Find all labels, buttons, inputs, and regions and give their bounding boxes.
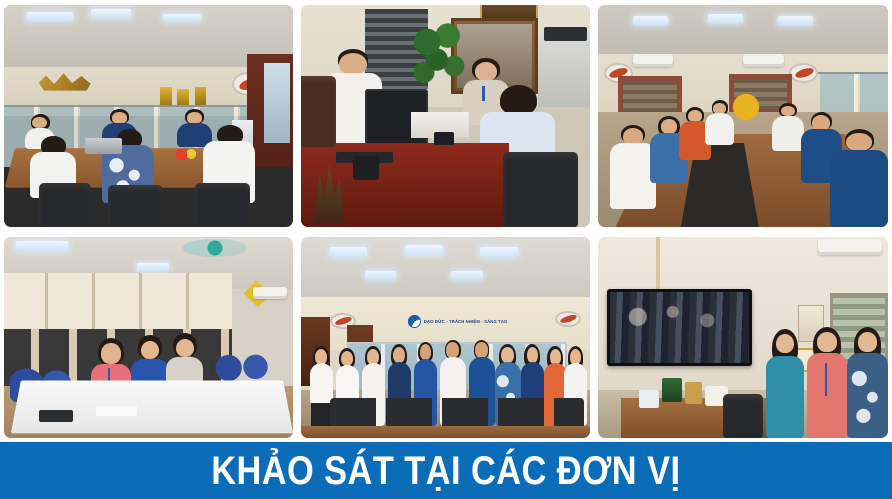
wall-logo: ĐẠO ĐỨC - TRÁCH NHIỆM - SÁNG TẠO xyxy=(408,311,483,331)
photo-cell-top-left[interactable] xyxy=(0,0,297,232)
door-glass xyxy=(264,63,290,143)
ceiling-light xyxy=(27,12,73,21)
locker-doors xyxy=(4,273,232,329)
photo-hall-lockers-discussion[interactable] xyxy=(4,237,293,438)
ceiling-light xyxy=(16,241,68,251)
ceiling-light xyxy=(365,271,397,279)
person-seated xyxy=(610,125,656,209)
tablet-device xyxy=(39,410,74,422)
photo-cell-bottom-left[interactable] xyxy=(0,232,297,443)
air-conditioner xyxy=(253,287,288,299)
ceiling-light xyxy=(708,14,743,23)
wall-tv xyxy=(607,289,752,365)
vase xyxy=(639,390,659,408)
photo-cell-top-center[interactable] xyxy=(297,0,594,232)
laptop xyxy=(85,138,123,154)
window xyxy=(618,76,682,116)
ceiling xyxy=(598,5,888,58)
blue-chairs xyxy=(212,354,276,382)
banner: KHẢO SÁT TẠI CÁC ĐƠN VỊ xyxy=(0,442,892,499)
tv-screen-classroom xyxy=(610,292,749,362)
chair xyxy=(195,183,250,227)
person-patterned-dress xyxy=(847,327,888,438)
paper-sheet xyxy=(96,406,136,416)
ceiling-light xyxy=(451,271,483,279)
person-seated xyxy=(705,100,734,144)
smartphone xyxy=(434,132,454,145)
person-seated xyxy=(772,103,804,152)
photo-office-desk-discussion[interactable] xyxy=(301,5,590,227)
ceiling-light xyxy=(633,16,668,25)
photo-collage-poster: ĐẠO ĐỨC - TRÁCH NHIỆM - SÁNG TẠO xyxy=(0,0,892,499)
air-conditioner xyxy=(743,54,784,67)
chair xyxy=(108,185,163,227)
office-chair xyxy=(723,394,764,438)
bottle xyxy=(685,382,702,404)
ceiling-light xyxy=(91,9,131,18)
ceiling-light xyxy=(137,263,169,271)
ceiling-light xyxy=(163,14,201,21)
air-conditioner xyxy=(633,54,674,67)
trophy-icon xyxy=(195,87,207,105)
photo-long-table-meeting[interactable] xyxy=(598,5,888,227)
photo-cell-bottom-center[interactable]: ĐẠO ĐỨC - TRÁCH NHIỆM - SÁNG TẠO xyxy=(297,232,594,443)
desk-phone xyxy=(353,156,379,180)
person-teal-dress xyxy=(766,329,804,438)
equipment-box xyxy=(544,27,587,40)
logo-mark-icon xyxy=(408,315,421,328)
wall-conduit xyxy=(656,237,660,289)
ceiling-fan-icon xyxy=(183,239,247,257)
white-table xyxy=(10,380,292,433)
wall-fan-icon xyxy=(789,63,818,83)
fruit-plate xyxy=(172,149,204,160)
photo-cell-top-right[interactable] xyxy=(594,0,892,232)
photo-group-portrait[interactable]: ĐẠO ĐỨC - TRÁCH NHIỆM - SÁNG TẠO xyxy=(301,237,590,438)
office-chair xyxy=(503,152,578,227)
person-seated xyxy=(830,129,888,227)
photo-tv-classroom-viewing[interactable] xyxy=(598,237,888,438)
photo-cell-bottom-right[interactable] xyxy=(594,232,892,443)
chair xyxy=(301,76,336,147)
plant-pot xyxy=(662,378,682,402)
photo-meeting-room-cabinets[interactable] xyxy=(4,5,293,227)
wall-logo-text: ĐẠO ĐỨC - TRÁCH NHIỆM - SÁNG TẠO xyxy=(424,319,507,324)
photo-grid: ĐẠO ĐỨC - TRÁCH NHIỆM - SÁNG TẠO xyxy=(0,0,892,443)
ceiling-light xyxy=(330,247,368,257)
ceiling-light xyxy=(480,247,518,257)
ceiling-light xyxy=(778,16,813,25)
ceiling-light xyxy=(405,245,443,255)
trophy-icon xyxy=(177,89,189,105)
front-desk xyxy=(301,426,590,438)
air-conditioner xyxy=(818,239,882,255)
banner-title: KHẢO SÁT TẠI CÁC ĐƠN VỊ xyxy=(211,451,680,491)
trophy-icon xyxy=(160,87,172,105)
person-coral-dress xyxy=(807,327,848,438)
chair xyxy=(39,183,91,227)
